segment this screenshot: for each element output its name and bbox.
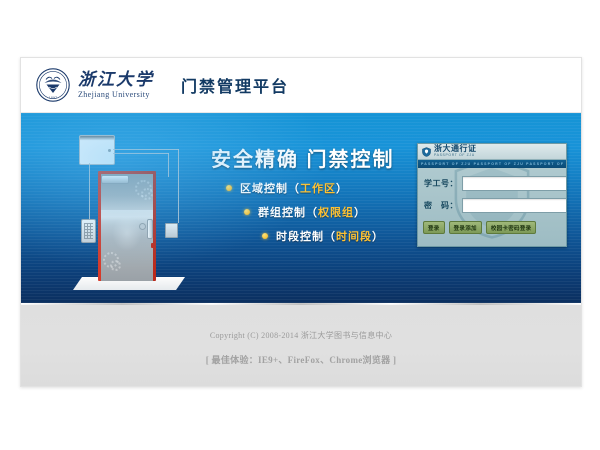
password-label: 密 码： — [424, 200, 458, 211]
feature-text-tail: ） — [336, 180, 348, 196]
door-knob-icon — [139, 223, 146, 230]
staff-id-row: 学工号： — [424, 176, 560, 191]
wire-controller-to-door-h — [113, 153, 169, 154]
feature-list: 区域控制（ 工作区 ） 群组控制（ 权限组 ） 时段控制（ 时间段 ） — [226, 180, 384, 252]
wire-reader-v — [178, 149, 179, 223]
shield-icon — [422, 147, 431, 157]
page-title: 门禁管理平台 — [181, 73, 289, 97]
wire-door-v — [168, 153, 169, 177]
card-reader-icon — [165, 223, 178, 238]
feature-item-area: 区域控制（ 工作区 ） — [226, 180, 384, 196]
password-row: 密 码： — [424, 198, 560, 213]
login-panel-header: 浙大通行证 PASSPORT OF ZJU — [418, 144, 566, 160]
svg-text:1897: 1897 — [49, 95, 57, 99]
site-footer: Copyright (C) 2008-2014 浙江大学图书与信息中心 [ 最佳… — [21, 303, 581, 387]
feature-item-group: 群组控制（ 权限组 ） — [226, 204, 384, 220]
feature-text-tail: ） — [372, 228, 384, 244]
bullet-icon — [226, 185, 232, 191]
access-controller-box-icon — [79, 135, 115, 165]
feature-text-tail: ） — [354, 204, 366, 220]
cog-icon — [110, 260, 121, 271]
keypad-reader-icon — [81, 219, 96, 243]
login-button-group: 登录 登录添加 校园卡密码登录 — [418, 220, 566, 234]
bullet-icon — [244, 209, 250, 215]
door-closer-icon — [101, 175, 129, 184]
login-panel-title-en: PASSPORT OF ZJU — [434, 154, 477, 158]
controller-indicator-icon — [108, 149, 111, 152]
feature-text-highlight: 权限组 — [318, 204, 354, 220]
bullet-icon — [262, 233, 268, 239]
feature-text-main: 群组控制（ — [258, 204, 318, 220]
access-control-illustration — [61, 131, 196, 301]
cog-icon — [141, 188, 153, 200]
wire-controller-to-reader-h — [113, 149, 179, 150]
staff-id-field[interactable] — [462, 176, 567, 191]
login-panel-strip-text: PASSPORT OF ZJU PASSPORT OF ZJU PASSPORT… — [418, 162, 566, 166]
login-add-button[interactable]: 登录添加 — [449, 221, 482, 234]
feature-text-highlight: 工作区 — [300, 180, 336, 196]
hero-banner: 安全精确 门禁控制 区域控制（ 工作区 ） 群组控制（ 权限组 ） 时段控制（ … — [21, 113, 581, 303]
password-field[interactable] — [462, 198, 567, 213]
zju-crest-icon: 1897 — [35, 67, 71, 103]
login-panel: 浙大通行证 PASSPORT OF ZJU PASSPORT OF ZJU PA… — [417, 143, 567, 247]
login-button[interactable]: 登录 — [423, 221, 445, 234]
staff-id-label: 学工号： — [424, 178, 458, 189]
door-lock-indicator-icon — [151, 243, 155, 248]
login-panel-strip: PASSPORT OF ZJU PASSPORT OF ZJU PASSPORT… — [418, 160, 566, 168]
campus-card-login-button[interactable]: 校园卡密码登录 — [486, 221, 537, 234]
site-header: 1897 浙江大学 Zhejiang University 门禁管理平台 — [21, 58, 581, 113]
feature-text-main: 时段控制（ — [276, 228, 336, 244]
university-name-en: Zhejiang University — [78, 91, 154, 99]
site-container: 1897 浙江大学 Zhejiang University 门禁管理平台 — [20, 57, 582, 387]
banner-slogan: 安全精确 门禁控制 — [211, 143, 395, 172]
keypad-keys-icon — [84, 223, 93, 239]
login-panel-title: 浙大通行证 PASSPORT OF ZJU — [434, 145, 477, 158]
wire-controller-to-keypad — [89, 163, 90, 219]
copyright-text: Copyright (C) 2008-2014 浙江大学图书与信息中心 — [21, 304, 581, 341]
feature-text-main: 区域控制（ — [240, 180, 300, 196]
university-name: 浙江大学 Zhejiang University — [78, 71, 154, 99]
feature-text-highlight: 时间段 — [336, 228, 372, 244]
login-panel-title-cn: 浙大通行证 — [434, 145, 477, 153]
door-glow — [112, 215, 141, 251]
feature-item-schedule: 时段控制（ 时间段 ） — [226, 228, 384, 244]
login-form: 学工号： 密 码： — [418, 168, 566, 213]
university-name-cn: 浙江大学 — [78, 71, 154, 88]
university-logo[interactable]: 1897 浙江大学 Zhejiang University — [35, 67, 154, 103]
browser-compatibility-note: [ 最佳体验：IE9+、FireFox、Chrome浏览器 ] — [21, 341, 581, 366]
door-handle-icon — [147, 219, 153, 239]
